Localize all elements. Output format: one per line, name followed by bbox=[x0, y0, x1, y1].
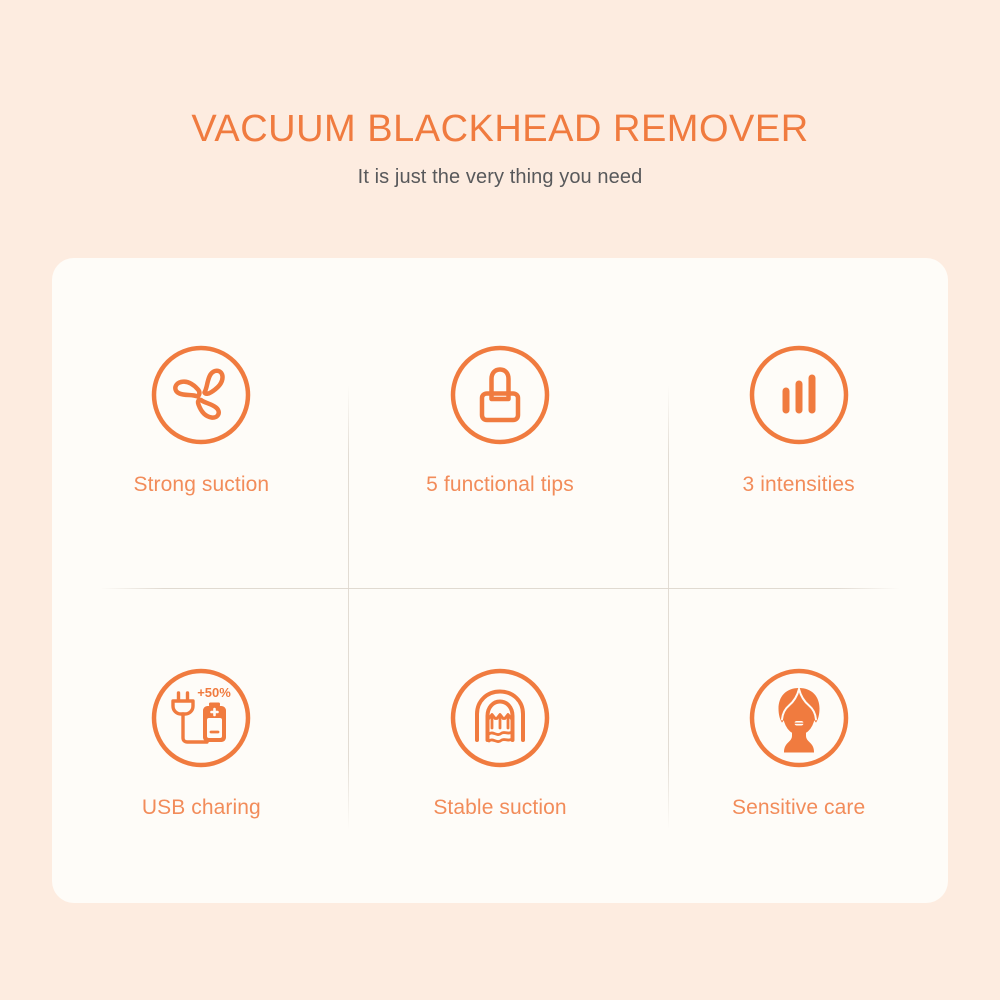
signal-bars-icon bbox=[745, 341, 853, 449]
feature-item-sensitive-care[interactable]: Sensitive care bbox=[649, 581, 948, 904]
product-feature-infographic: VACUUM BLACKHEAD REMOVER It is just the … bbox=[0, 0, 1000, 1000]
header: VACUUM BLACKHEAD REMOVER It is just the … bbox=[0, 108, 1000, 189]
feature-item-strong-suction[interactable]: Strong suction bbox=[52, 258, 351, 581]
nozzle-tip-icon bbox=[446, 341, 554, 449]
feature-label: 5 functional tips bbox=[426, 473, 574, 497]
fan-propeller-icon bbox=[147, 341, 255, 449]
suction-arch-icon bbox=[446, 664, 554, 772]
feature-label: USB charing bbox=[142, 796, 261, 820]
female-face-icon bbox=[745, 664, 853, 772]
feature-item-stable-suction[interactable]: Stable suction bbox=[351, 581, 650, 904]
feature-card: Strong suction 5 functional tips bbox=[52, 258, 948, 903]
feature-label: Stable suction bbox=[433, 796, 566, 820]
page-subtitle: It is just the very thing you need bbox=[0, 166, 1000, 189]
feature-item-functional-tips[interactable]: 5 functional tips bbox=[351, 258, 650, 581]
page-title: VACUUM BLACKHEAD REMOVER bbox=[0, 108, 1000, 152]
feature-item-intensities[interactable]: 3 intensities bbox=[649, 258, 948, 581]
feature-item-usb-charging[interactable]: +50% USB charing bbox=[52, 581, 351, 904]
feature-label: 3 intensities bbox=[743, 473, 855, 497]
battery-percent-label: +50% bbox=[198, 685, 232, 700]
feature-label: Sensitive care bbox=[732, 796, 865, 820]
feature-label: Strong suction bbox=[134, 473, 270, 497]
usb-charging-icon: +50% bbox=[147, 664, 255, 772]
feature-grid: Strong suction 5 functional tips bbox=[52, 258, 948, 903]
